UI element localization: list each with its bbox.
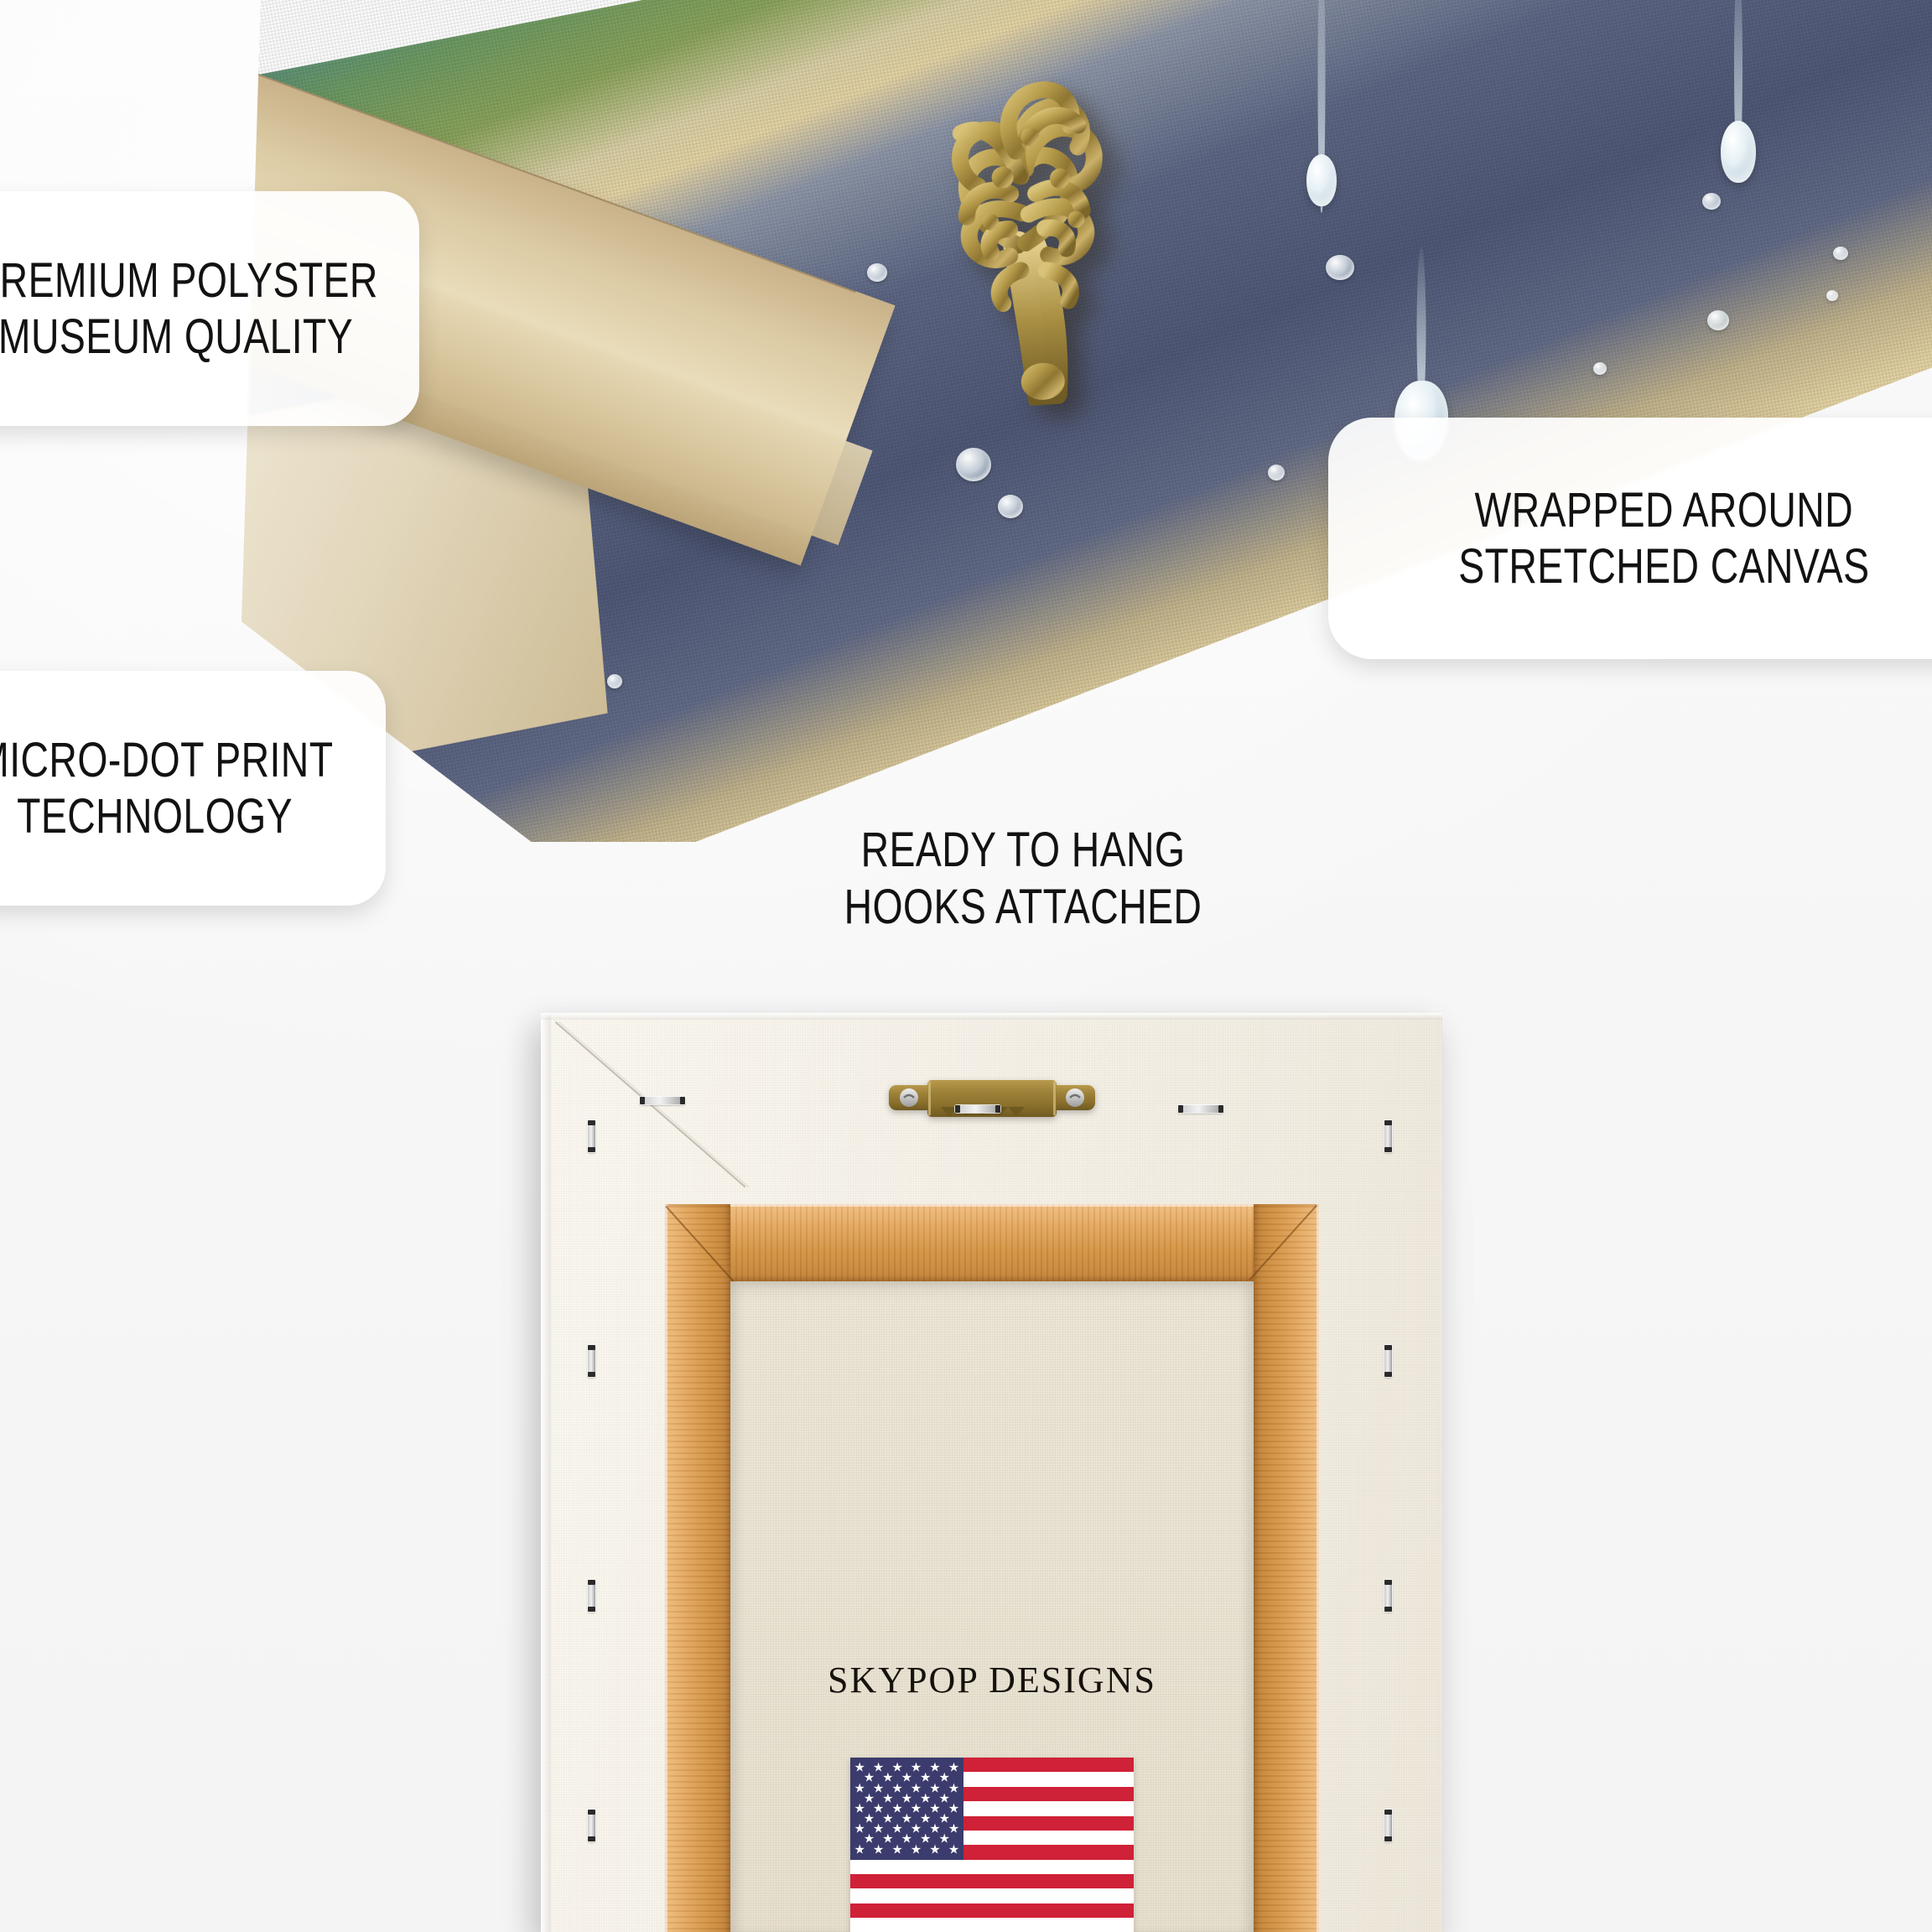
- ready-to-hang-caption: READY TO HANG HOOKS ATTACHED: [637, 822, 1409, 937]
- staple-icon: [1384, 1120, 1392, 1152]
- micro-dot-line-1: MICRO-DOT PRINT: [0, 732, 334, 788]
- water-bead-icon: [607, 674, 622, 688]
- water-bead-icon: [998, 495, 1023, 518]
- staple-icon: [588, 1580, 595, 1612]
- staple-icon: [640, 1097, 685, 1104]
- panel-top-edge: [541, 1013, 1442, 1020]
- flag-star: ★: [891, 1843, 902, 1856]
- flag-stripe: [850, 1874, 1134, 1888]
- product-feature-stage: PREMIUM POLYSTER MUSEUM QUALITY WRAPPED …: [0, 0, 1932, 1932]
- ready-to-hang-line-1: READY TO HANG: [714, 822, 1332, 879]
- flag-stripe: [850, 1888, 1134, 1903]
- staple-icon: [955, 1105, 1000, 1113]
- celtic-tree-of-life-ornament-icon: [850, 0, 1197, 417]
- water-bead-icon: [1707, 310, 1729, 330]
- water-bead-icon: [1702, 193, 1721, 210]
- staple-icon: [1384, 1580, 1392, 1612]
- staple-icon: [1384, 1345, 1392, 1377]
- water-bead-icon: [1833, 247, 1848, 260]
- staple-icon: [588, 1120, 595, 1152]
- staple-icon: [588, 1345, 595, 1377]
- water-bead-icon: [1268, 465, 1285, 480]
- micro-dot-label: MICRO-DOT PRINT TECHNOLOGY: [0, 671, 386, 906]
- flag-stripe: [850, 1903, 1134, 1918]
- usa-flag-icon: ★★★★★★★★★★★★★★★★★★★★★★★★★★★★★★★★★★★★★★★★…: [850, 1758, 1134, 1932]
- water-bead-icon: [1326, 255, 1354, 280]
- staple-icon: [588, 1810, 595, 1841]
- canvas-inner-back: SKYPOP DESIGNS ★★★★★★★★★★★★★★★★★★★★★★★★★…: [730, 1280, 1254, 1932]
- canvas-back-product-image: SKYPOP DESIGNS ★★★★★★★★★★★★★★★★★★★★★★★★★…: [541, 1013, 1442, 1932]
- stretcher-bar-top: [665, 1204, 1319, 1281]
- flag-canton: ★★★★★★★★★★★★★★★★★★★★★★★★★★★★★★★★★★★★★★★★…: [850, 1758, 963, 1860]
- flag-star: ★: [854, 1843, 865, 1856]
- flag-star: ★: [911, 1843, 922, 1856]
- wrapped-around-line-1: WRAPPED AROUND: [1474, 482, 1853, 538]
- staple-icon: [1384, 1810, 1392, 1841]
- wrapped-around-line-2: STRETCHED CANVAS: [1458, 538, 1869, 595]
- water-bead-icon: [1826, 290, 1838, 301]
- flag-star: ★: [948, 1843, 959, 1856]
- flag-stripe: [850, 1918, 1134, 1932]
- premium-polyster-label: PREMIUM POLYSTER MUSEUM QUALITY: [0, 191, 419, 426]
- flag-stripe: [850, 1860, 1134, 1874]
- water-bead-icon: [1593, 362, 1607, 375]
- staple-icon: [1178, 1105, 1223, 1113]
- ready-to-hang-line-2: HOOKS ATTACHED: [714, 879, 1332, 936]
- sawtooth-hanger-icon: [889, 1077, 1095, 1130]
- brand-text: SKYPOP DESIGNS: [730, 1659, 1254, 1701]
- micro-dot-line-2: TECHNOLOGY: [18, 788, 293, 844]
- stretcher-bar-left: [665, 1204, 730, 1932]
- stretcher-bar-right: [1254, 1204, 1319, 1932]
- premium-polyster-line-1: PREMIUM POLYSTER: [0, 252, 378, 309]
- water-bead-icon: [867, 263, 887, 282]
- flag-star: ★: [929, 1843, 940, 1856]
- premium-polyster-line-2: MUSEUM QUALITY: [0, 309, 354, 365]
- wrapped-around-label: WRAPPED AROUND STRETCHED CANVAS: [1328, 418, 1932, 659]
- water-bead-icon: [956, 448, 991, 481]
- flag-star: ★: [873, 1843, 884, 1856]
- panel-left-edge: [541, 1013, 551, 1932]
